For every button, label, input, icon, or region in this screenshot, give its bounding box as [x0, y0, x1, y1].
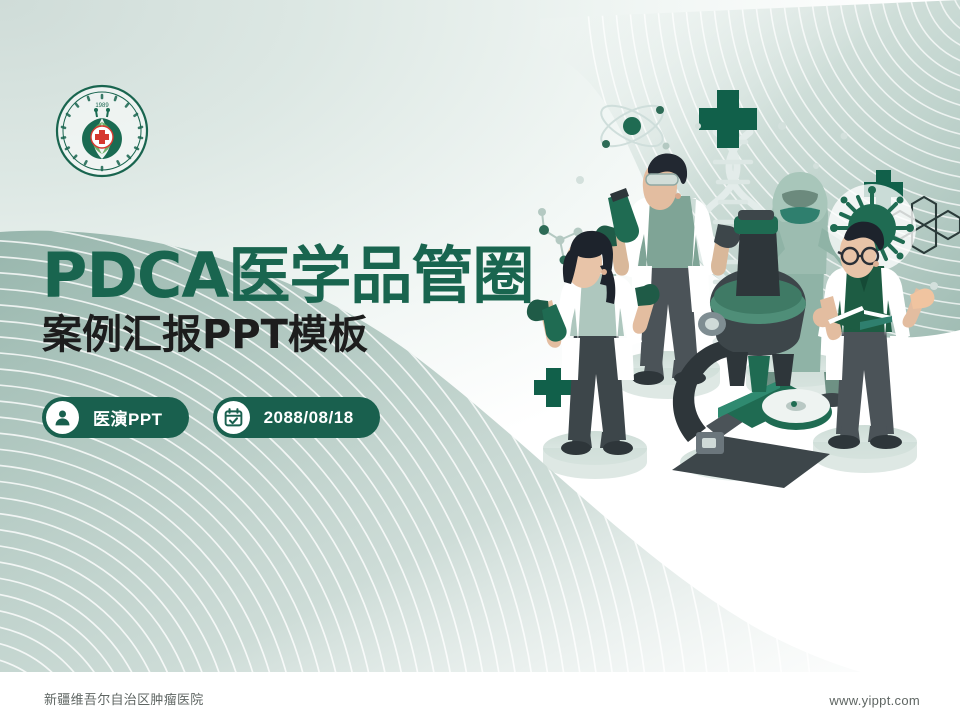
plus-cross-icon	[699, 90, 757, 148]
user-icon	[46, 401, 79, 434]
logo-year: 1989	[95, 103, 109, 109]
date-pill[interactable]: 2088/08/18	[213, 397, 380, 438]
hospital-logo: 1989	[48, 82, 156, 180]
meta-pill-row: 医演PPT 2088/08/18	[42, 397, 380, 438]
medical-research-illustration	[520, 70, 960, 490]
date-label: 2088/08/18	[264, 408, 354, 428]
footer-organization: 新疆维吾尔自治区肿瘤医院	[44, 689, 204, 708]
author-pill[interactable]: 医演PPT	[42, 397, 189, 438]
page-subtitle: 案例汇报PPT模板	[42, 313, 533, 357]
author-label: 医演PPT	[93, 405, 163, 430]
molecule-structure	[595, 98, 669, 155]
calendar-check-icon	[217, 401, 250, 434]
footer-website: www.yippt.com	[829, 693, 920, 708]
page-title: PDCA医学品管圈	[42, 244, 533, 307]
title-block: PDCA医学品管圈 案例汇报PPT模板	[42, 244, 533, 357]
presentation-slide: 1989	[0, 0, 960, 720]
